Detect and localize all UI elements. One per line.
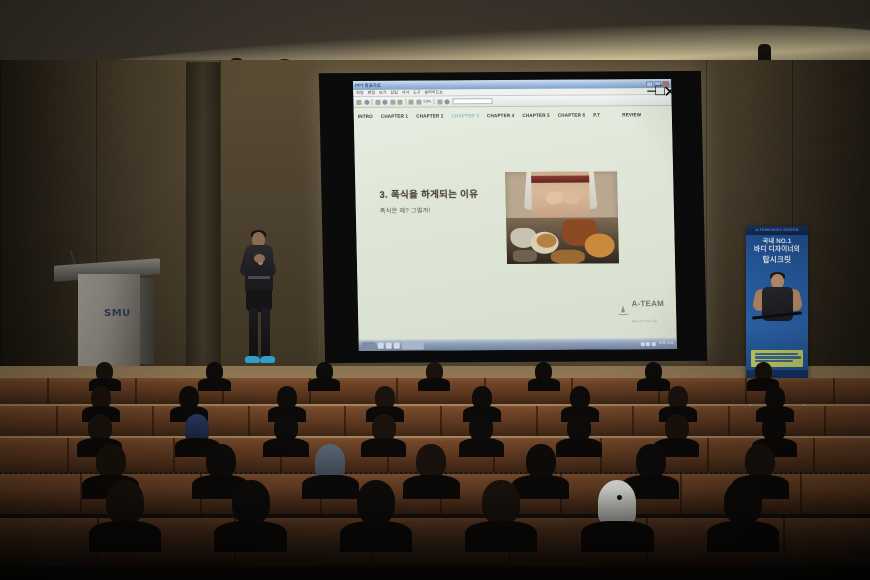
seat-divider (800, 474, 802, 514)
style-field[interactable] (452, 98, 492, 104)
menu-item-5[interactable]: 도구 (413, 90, 421, 96)
audience-head (88, 414, 112, 441)
volume-icon[interactable] (646, 342, 650, 346)
banner-headline: 국내 NO.1 바디 디자이너의 탑시크릿 (746, 238, 808, 265)
seat-divider (67, 438, 69, 472)
audience-head (315, 444, 345, 478)
a-team-logo-name: A-TEAM (632, 299, 665, 308)
seat-row (0, 406, 870, 436)
menu-item-4[interactable]: 서식 (402, 90, 410, 96)
podium-logo: SMU (104, 308, 131, 319)
slide-subtitle: 폭식은 왜? 그럴까! (380, 206, 431, 215)
audience-shoulders (214, 521, 286, 552)
audience-head (185, 414, 209, 441)
ime-icon[interactable] (652, 342, 656, 346)
audience-shoulders (263, 438, 309, 457)
auditorium-scene: PPT 발표자료 – □ ✕ 파일편집보기삽입서식도구슬라이드쇼 (0, 0, 870, 580)
audience-head (469, 414, 493, 441)
taskbar-window-button[interactable] (402, 341, 424, 349)
audience-shoulders (308, 378, 340, 391)
audience-shoulders (459, 438, 505, 457)
redo-icon[interactable] (397, 99, 402, 104)
audience-head (274, 414, 298, 441)
podium: SMU (62, 262, 154, 370)
podium-body: SMU (78, 274, 140, 366)
photo-food-item (513, 250, 537, 262)
window-title: PPT 발표자료 (355, 82, 381, 88)
seat-divider (824, 406, 826, 436)
a-team-mark-icon (618, 305, 629, 316)
seat-divider (47, 378, 49, 404)
audience-head (357, 480, 395, 524)
audience-head (724, 480, 762, 524)
nav-tab-chapter-5[interactable]: CHAPTER 5 (518, 113, 554, 118)
banner-headline-3: 탑시크릿 (746, 255, 808, 265)
speaker-leg-right (261, 308, 270, 358)
audience-shoulders (528, 378, 560, 391)
photo-belt (531, 176, 589, 183)
nav-tab-chapter-4[interactable]: CHAPTER 4 (483, 113, 519, 118)
nav-tab-p-t[interactable]: P.T (589, 112, 604, 117)
slide-photo-binge-eating (505, 171, 619, 264)
seat-divider (707, 438, 709, 472)
new-file-icon[interactable] (356, 99, 361, 104)
banner-model-photo (752, 274, 802, 346)
nav-tab-intro[interactable]: INTRO (354, 114, 377, 119)
audience-shoulders (465, 521, 537, 552)
maximize-button[interactable]: □ (654, 81, 661, 87)
minimize-button[interactable]: – (646, 81, 653, 87)
seat-divider (833, 378, 835, 404)
seat-divider (813, 438, 815, 472)
audience-shoulders (302, 475, 359, 499)
projected-desktop: PPT 발표자료 – □ ✕ 파일편집보기삽입서식도구슬라이드쇼 (353, 79, 677, 351)
audience-head (598, 480, 636, 524)
audience-shoulders (361, 438, 407, 457)
window-controls: – □ ✕ (646, 81, 669, 87)
audience-shoulders (637, 378, 669, 391)
save-icon[interactable] (375, 99, 380, 104)
audience-shoulders (340, 521, 412, 552)
audience-shoulders (581, 521, 653, 552)
toolbar-separator (371, 99, 372, 105)
speaker-presenter (238, 232, 280, 374)
audience-shoulders (707, 521, 779, 552)
menu-item-6[interactable]: 슬라이드쇼 (424, 89, 443, 95)
projection-screen: PPT 발표자료 – □ ✕ 파일편집보기삽입서식도구슬라이드쇼 (319, 71, 707, 363)
audience-shoulders (89, 521, 161, 552)
print-icon[interactable] (382, 99, 387, 104)
seat-divider (152, 406, 154, 436)
speaker-leg-left (249, 308, 258, 358)
banner-headline-2: 바디 디자이너의 (746, 246, 808, 255)
photo-food-item (584, 233, 615, 257)
toolbar-separator (434, 98, 435, 104)
menu-item-1[interactable]: 편집 (368, 90, 376, 96)
photo-food-table (506, 217, 619, 264)
seat-divider (248, 406, 250, 436)
open-file-icon[interactable] (364, 99, 369, 104)
audience-shoulders (556, 438, 602, 457)
nav-tab-chapter-6[interactable]: CHAPTER 6 (554, 112, 590, 117)
audience-head (416, 444, 446, 478)
audience-head (96, 444, 126, 478)
seat-divider (56, 406, 58, 436)
seat-divider (632, 406, 634, 436)
audience-shoulders (198, 378, 230, 391)
audience-shoulders (512, 475, 569, 499)
audience-head (106, 480, 144, 524)
seat-divider (135, 378, 137, 404)
taskbar-clock[interactable]: 오후 3:41 (659, 341, 674, 346)
a-team-logo-tagline: Reboot Your Life (632, 319, 657, 323)
photo-food-item (551, 250, 585, 264)
menu-item-2[interactable]: 보기 (379, 90, 387, 96)
seat-divider (728, 406, 730, 436)
audience-head (482, 480, 520, 524)
slide-title: 3. 폭식을 하게되는 이유 (379, 186, 478, 201)
nav-tab-chapter-3[interactable]: CHAPTER 3 (448, 113, 484, 118)
audience-head (526, 444, 556, 478)
audience-head (762, 414, 786, 441)
a-team-logo-text: A-TEAM Reboot Your Life (631, 294, 664, 326)
seat-divider (536, 406, 538, 436)
slide-canvas: INTROCHAPTER 1CHAPTER 2CHAPTER 3CHAPTER … (354, 106, 677, 340)
audience-head (636, 444, 666, 478)
slide-chapter-nav[interactable]: INTROCHAPTER 1CHAPTER 2CHAPTER 3CHAPTER … (354, 106, 672, 125)
windows-taskbar[interactable]: 오후 3:41 (359, 338, 677, 351)
start-button[interactable] (362, 341, 376, 349)
slide-body: 3. 폭식을 하게되는 이유 폭식은 왜? 그럴까! (354, 123, 677, 340)
banner-top-strip: A-TEAM BODY DESIGN (746, 226, 808, 235)
audience-shoulders (403, 475, 460, 499)
speaker-hands (254, 254, 265, 263)
help-icon[interactable] (445, 99, 450, 104)
speaker-shoe-left (245, 356, 260, 363)
seat-divider (783, 518, 785, 566)
speaker-shoe-right (260, 356, 275, 363)
cut-icon[interactable] (408, 99, 413, 104)
seat-divider (396, 378, 398, 404)
a-team-logo: A-TEAM Reboot Your Life (618, 294, 665, 326)
audience-head (232, 480, 270, 524)
zoom-level[interactable]: 53% (423, 100, 431, 104)
seat-divider (440, 406, 442, 436)
audience-head (567, 414, 591, 441)
audience-head (745, 444, 775, 478)
audience-head (206, 444, 236, 478)
audience-shoulders (418, 378, 450, 391)
folder-icon[interactable] (386, 342, 392, 348)
copy-icon[interactable] (416, 99, 421, 104)
media-player-icon[interactable] (394, 342, 400, 348)
audience-head (665, 414, 689, 441)
audience-head (372, 414, 396, 441)
seat-divider (680, 474, 682, 514)
close-button[interactable]: ✕ (662, 81, 669, 87)
menu-item-0[interactable]: 파일 (356, 90, 364, 96)
nav-tab-review[interactable]: REVIEW (618, 112, 645, 117)
system-tray[interactable]: 오후 3:41 (641, 341, 674, 346)
photo-food-item (536, 234, 556, 248)
nav-tab-chapter-1[interactable]: CHAPTER 1 (377, 114, 413, 119)
toolbar-separator (405, 99, 406, 105)
browser-icon[interactable] (378, 342, 384, 348)
undo-icon[interactable] (390, 99, 395, 104)
seat-divider (344, 406, 346, 436)
network-icon[interactable] (641, 342, 645, 346)
speaker-torso (245, 245, 273, 293)
menu-item-3[interactable]: 삽입 (390, 90, 398, 96)
slideshow-icon[interactable] (437, 99, 442, 104)
speaker-belt (248, 276, 270, 279)
nav-tab-chapter-2[interactable]: CHAPTER 2 (412, 113, 448, 118)
audience-seating (0, 372, 870, 580)
